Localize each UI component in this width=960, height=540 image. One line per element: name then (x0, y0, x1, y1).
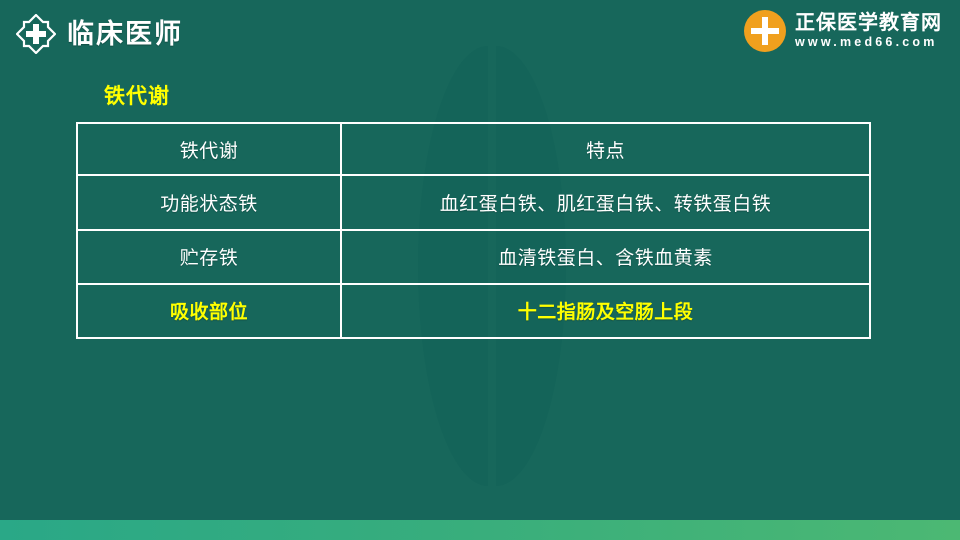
row-label: 贮存铁 (76, 231, 342, 285)
brand-right-text-block: 正保医学教育网 www.med66.com (795, 12, 942, 50)
brand-right-title: 正保医学教育网 (795, 12, 942, 34)
cross-horizontal-bar (751, 28, 779, 34)
cross-notch (769, 35, 777, 43)
column-header-category: 铁代谢 (76, 122, 342, 176)
row-detail: 血红蛋白铁、肌红蛋白铁、转铁蛋白铁 (342, 176, 871, 230)
row-label: 功能状态铁 (76, 176, 342, 230)
brand-left-title: 临床医师 (67, 21, 183, 48)
slide-canvas: 临床医师 正保医学教育网 www.med66.com 铁代谢 铁代谢 特点 功能… (0, 0, 960, 540)
brand-right: 正保医学教育网 www.med66.com (744, 10, 942, 52)
column-header-features: 特点 (342, 122, 871, 176)
brand-left: 临床医师 (16, 14, 183, 54)
iron-metabolism-table: 铁代谢 特点 功能状态铁 血红蛋白铁、肌红蛋白铁、转铁蛋白铁 贮存铁 血清铁蛋白… (76, 122, 871, 339)
row-detail: 血清铁蛋白、含铁血黄素 (342, 231, 871, 285)
table-row: 贮存铁 血清铁蛋白、含铁血黄素 (76, 231, 871, 285)
page-title: 铁代谢 (104, 80, 170, 110)
bottom-accent-strip (0, 520, 960, 540)
row-detail: 十二指肠及空肠上段 (342, 285, 871, 339)
table-row-highlighted: 吸收部位 十二指肠及空肠上段 (76, 285, 871, 339)
table-row: 功能状态铁 血红蛋白铁、肌红蛋白铁、转铁蛋白铁 (76, 176, 871, 230)
table-header-row: 铁代谢 特点 (76, 122, 871, 176)
medical-cross-diamond-icon (16, 14, 56, 54)
brand-right-url: www.med66.com (795, 36, 942, 50)
row-label: 吸收部位 (76, 285, 342, 339)
orange-circle-cross-icon (744, 10, 786, 52)
